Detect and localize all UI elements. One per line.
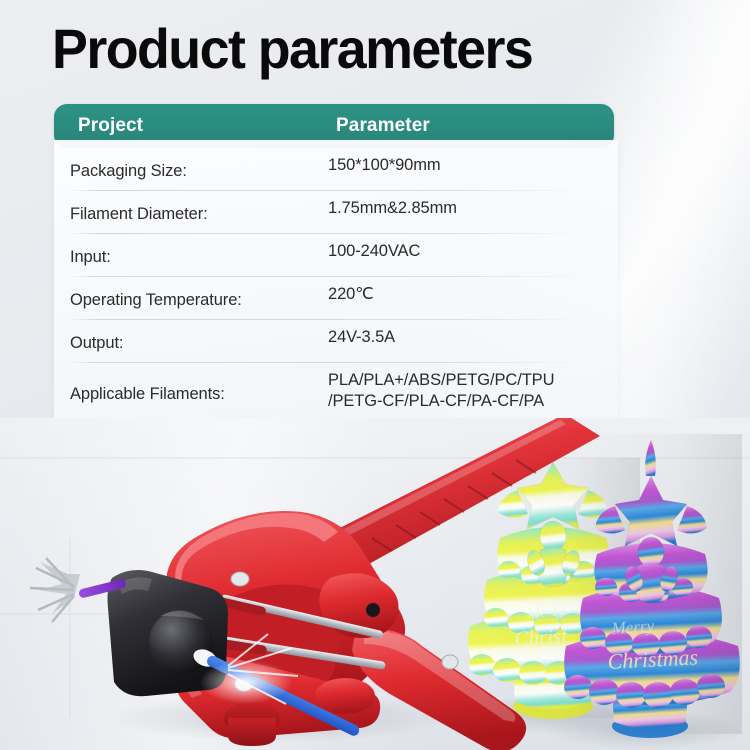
table-row: Operating Temperature: 220℃ [54, 277, 618, 319]
row-value: 150*100*90mm [328, 148, 618, 176]
row-value: 24V-3.5A [328, 320, 618, 348]
row-label: Packaging Size: [54, 148, 328, 182]
row-value: 100-240VAC [328, 234, 618, 262]
row-value: 220℃ [328, 277, 618, 305]
weld-spark-glow [200, 660, 292, 704]
row-label: Applicable Filaments: [54, 363, 328, 405]
spec-table: Project Parameter Packaging Size: 150*10… [54, 104, 618, 445]
table-row: Output: 24V-3.5A [54, 320, 618, 362]
table-row: Input: 100-240VAC [54, 234, 618, 276]
christmas-tree-right: Christmas Merry [564, 434, 742, 738]
row-label: Filament Diameter: [54, 191, 328, 225]
spec-table-body: Packaging Size: 150*100*90mm Filament Di… [54, 140, 618, 445]
row-label: Operating Temperature: [54, 277, 328, 311]
table-row: Filament Diameter: 1.75mm&2.85mm [54, 191, 618, 233]
table-row: Applicable Filaments: PLA/PLA+/ABS/PETG/… [54, 363, 618, 423]
page-title: Product parameters [52, 20, 532, 79]
product-image: Christ Merry [0, 418, 750, 750]
column-header-project: Project [78, 115, 336, 137]
row-value: PLA/PLA+/ABS/PETG/PC/TPU /PETG-CF/PLA-CF… [328, 363, 618, 412]
row-value: 1.75mm&2.85mm [328, 191, 618, 219]
row-label: Output: [54, 320, 328, 354]
product-parameters-page: Product parameters Project Parameter Pac… [0, 0, 750, 750]
table-row: Packaging Size: 150*100*90mm [54, 148, 618, 190]
row-label: Input: [54, 234, 328, 268]
product-illustration: Christ Merry [0, 418, 750, 750]
column-header-parameter: Parameter [336, 115, 430, 137]
